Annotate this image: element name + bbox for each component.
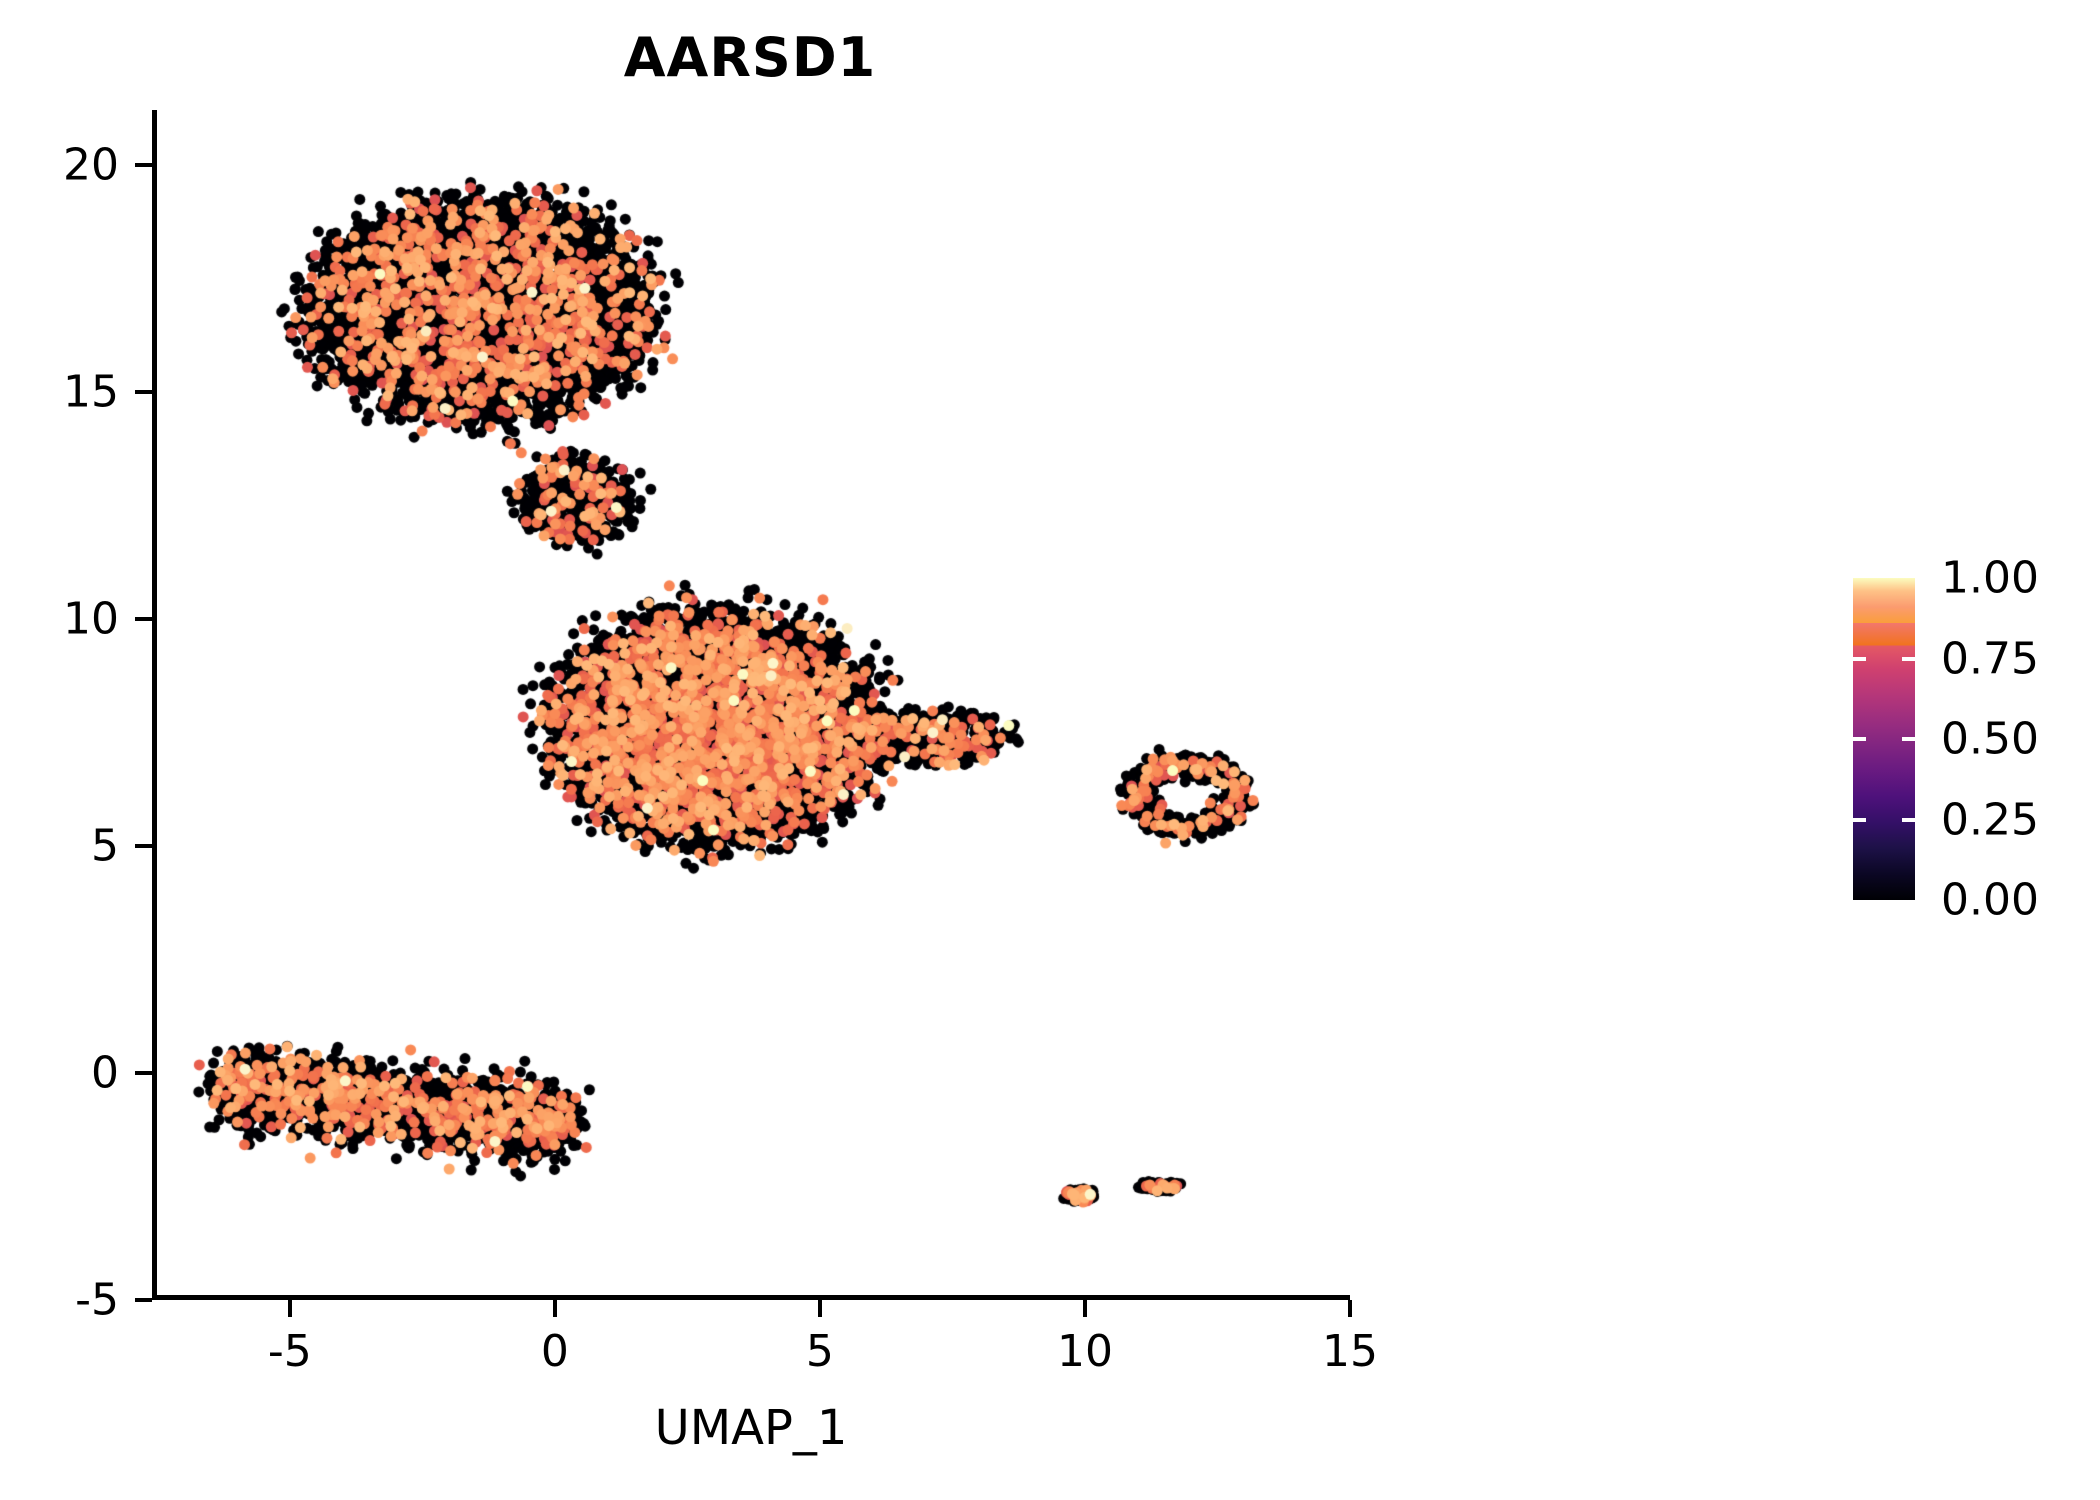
- x-tick-label: -5: [268, 1326, 312, 1377]
- y-tick-label: 10: [63, 593, 119, 644]
- colorbar-tick-label: 0.25: [1941, 794, 2039, 845]
- y-tick-mark: [135, 1298, 152, 1302]
- colorbar-tick-mark: [1902, 737, 1915, 741]
- colorbar-tick-label: 1.00: [1941, 553, 2039, 604]
- y-tick-mark: [135, 844, 152, 848]
- y-tick-label: 20: [63, 139, 119, 190]
- colorbar-tick-mark: [1902, 657, 1915, 661]
- scatter-points-layer: [152, 110, 1350, 1300]
- y-tick-mark: [135, 617, 152, 621]
- y-tick-label: 5: [91, 820, 119, 871]
- colorbar-tick-mark: [1853, 818, 1866, 822]
- y-tick-mark: [135, 163, 152, 167]
- y-tick-label: -5: [75, 1275, 119, 1326]
- colorbar-tick-label: 0.00: [1941, 875, 2039, 926]
- figure-canvas: AARSD1 -5051015 -505101520 UMAP_1 UMAP_2…: [0, 0, 2100, 1500]
- x-axis-label: UMAP_1: [152, 1400, 1350, 1456]
- chart-title: AARSD1: [0, 26, 1500, 89]
- x-tick-label: 0: [541, 1326, 569, 1377]
- x-tick-mark: [1083, 1300, 1087, 1317]
- x-tick-mark: [288, 1300, 292, 1317]
- y-axis-spine: [152, 110, 157, 1300]
- colorbar: 1.000.750.500.250.00: [1853, 578, 2083, 900]
- colorbar-tick-mark: [1853, 737, 1866, 741]
- x-tick-mark: [818, 1300, 822, 1317]
- colorbar-tick-mark: [1853, 657, 1866, 661]
- x-tick-label: 5: [806, 1326, 834, 1377]
- x-tick-mark: [553, 1300, 557, 1317]
- colorbar-tick-mark: [1902, 818, 1915, 822]
- x-tick-label: 15: [1322, 1326, 1378, 1377]
- y-tick-mark: [135, 390, 152, 394]
- colorbar-tick-label: 0.50: [1941, 714, 2039, 765]
- y-tick-label: 0: [91, 1047, 119, 1098]
- colorbar-tick-label: 0.75: [1941, 633, 2039, 684]
- y-tick-label: 15: [63, 366, 119, 417]
- scatter-axes: -5051015 -505101520 UMAP_1 UMAP_2: [152, 110, 1350, 1300]
- y-tick-mark: [135, 1071, 152, 1075]
- x-tick-mark: [1348, 1300, 1352, 1317]
- x-axis-spine: [152, 1295, 1350, 1300]
- x-tick-label: 10: [1057, 1326, 1113, 1377]
